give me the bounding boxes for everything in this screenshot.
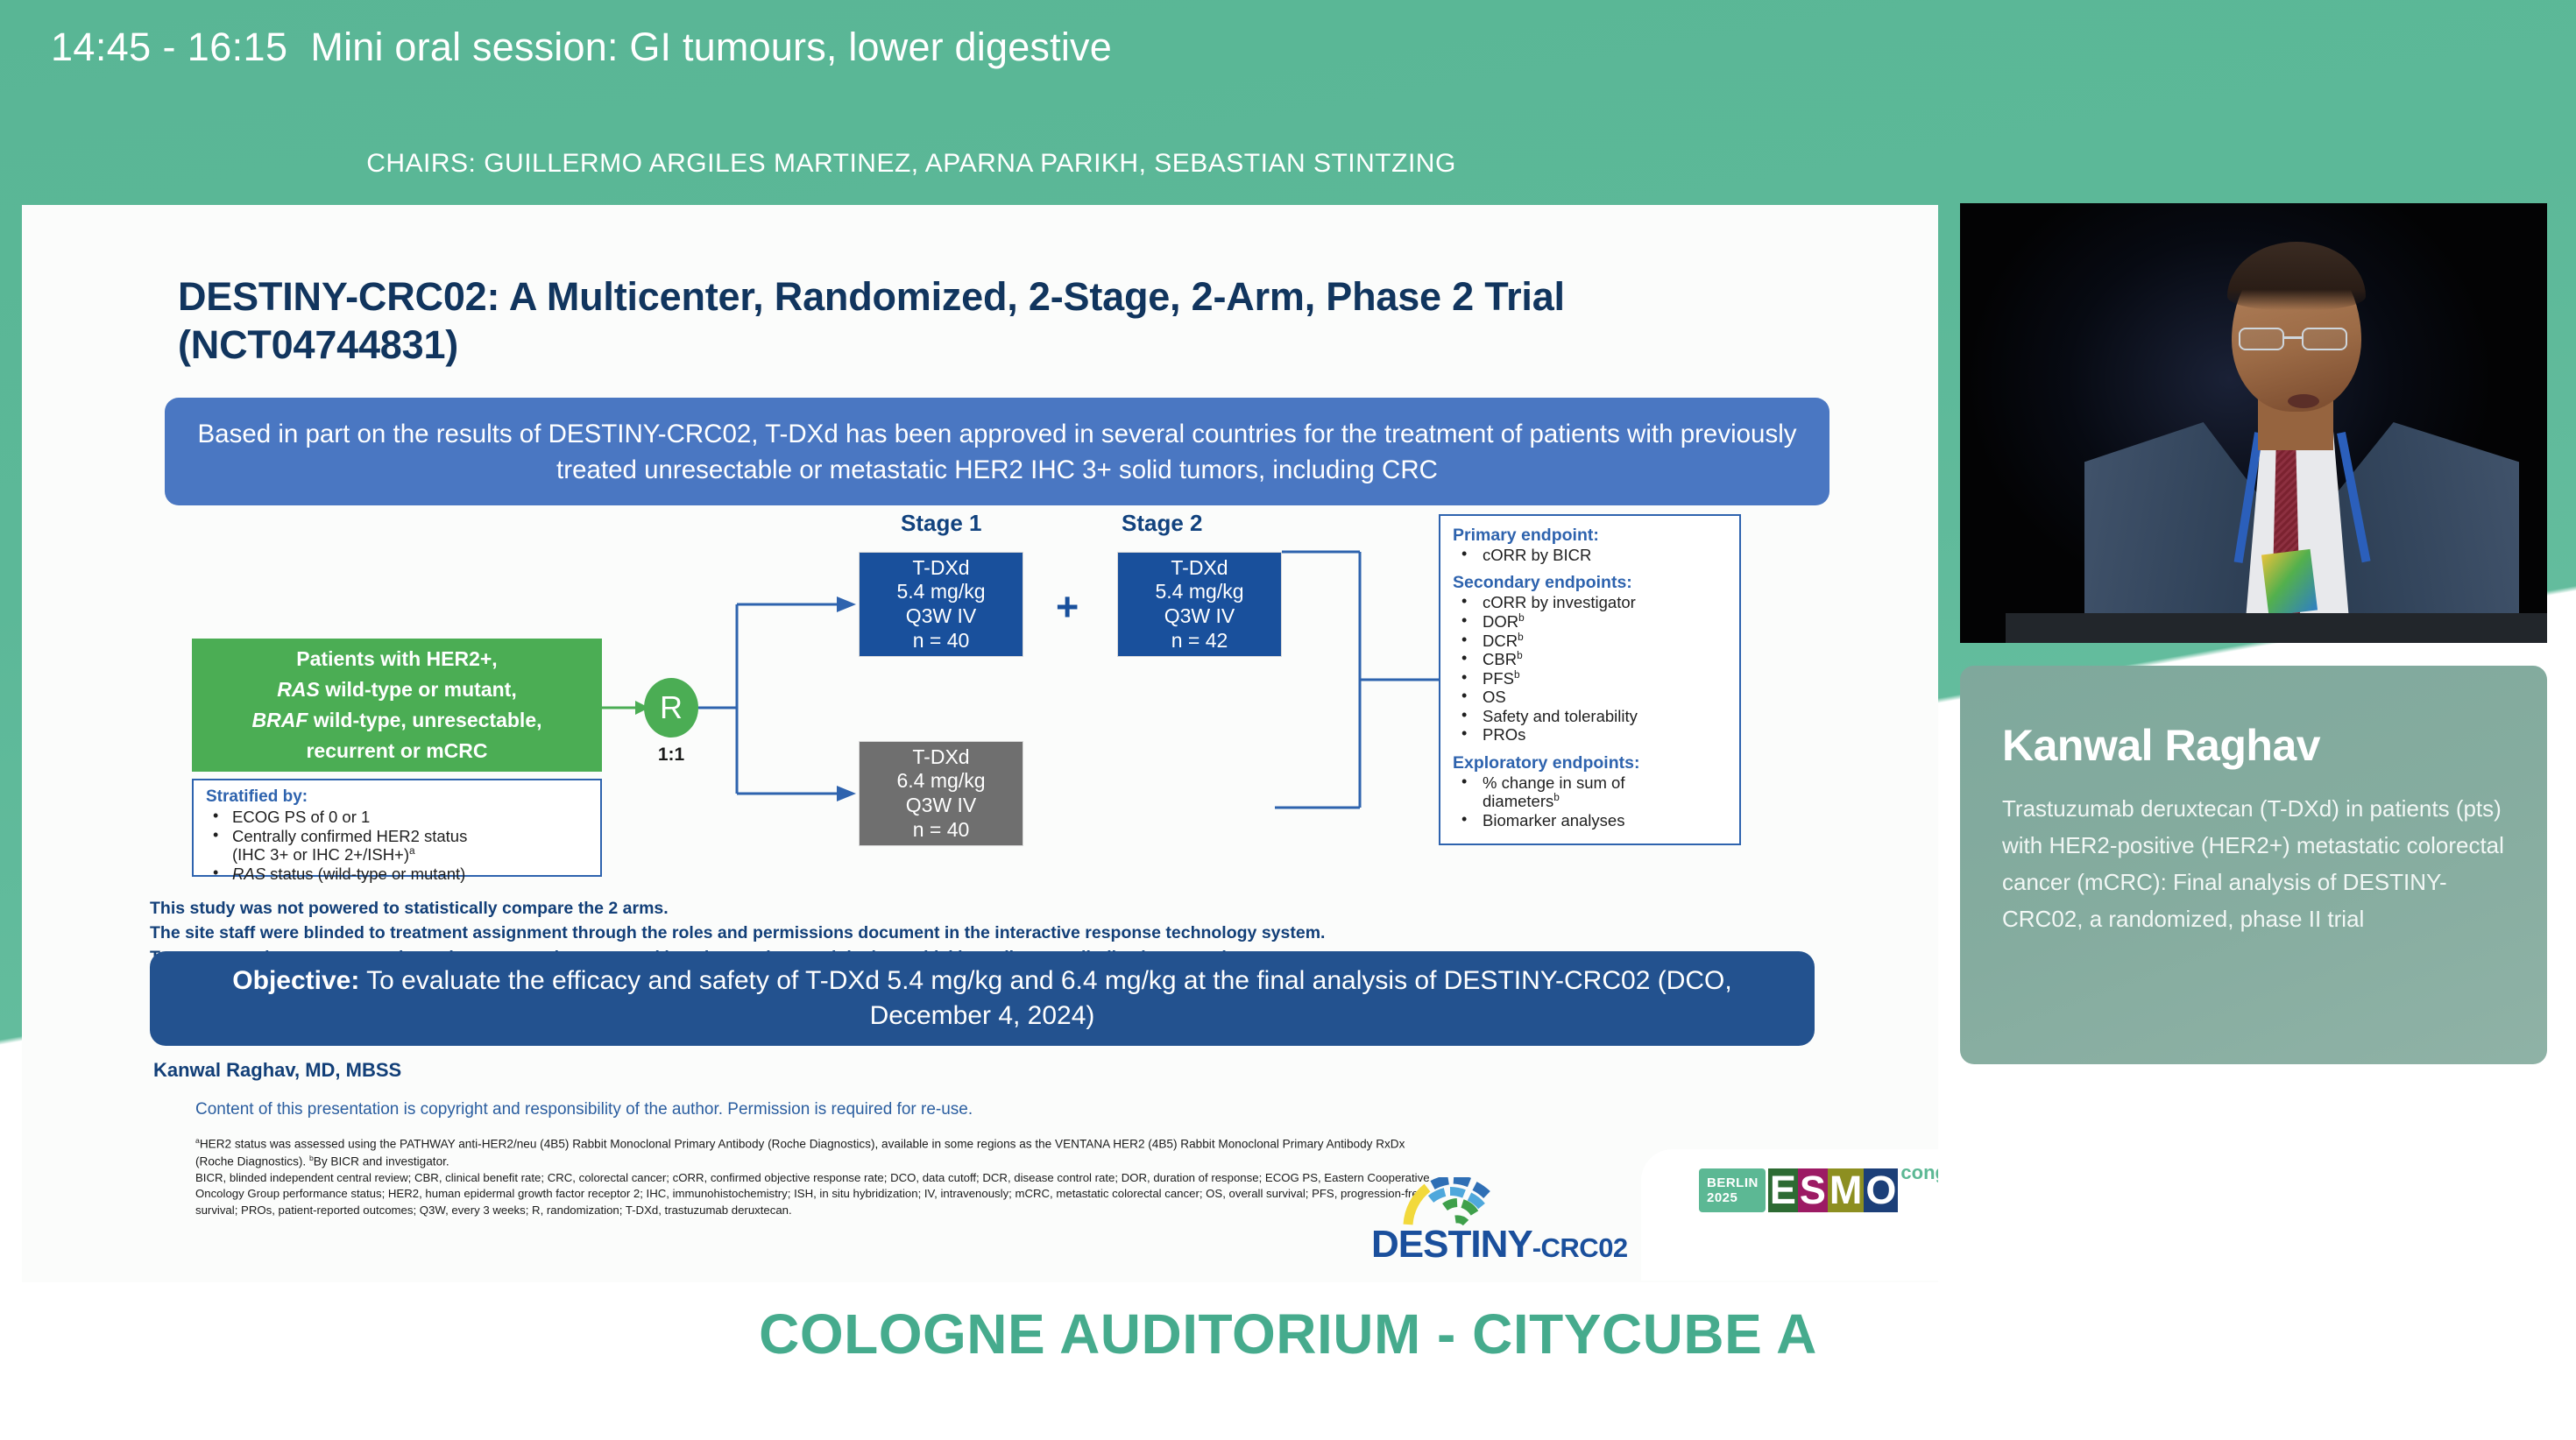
slide-content: DESTINY-CRC02: A Multicenter, Randomized… [22,205,1938,1282]
speaker-video[interactable] [1960,203,2547,643]
endpoint-item: PFSb [1453,669,1729,688]
esmo-berlin-city: BERLIN [1707,1176,1759,1191]
study-note-line: The site staff were blinded to treatment… [150,921,1815,946]
slide-copyright: Content of this presentation is copyrigh… [195,1100,973,1119]
arm-schedule: Q3W IV [863,794,1019,818]
population-line-1: Patients with HER2+, [201,644,593,674]
secondary-endpoints-title: Secondary endpoints: [1453,573,1729,593]
endpoint-item: DCRb [1453,632,1729,651]
population-line-2: RAS wild-type or mutant, [201,674,593,705]
arm-drug: T-DXd [1122,556,1277,581]
glasses-bridge [2284,336,2302,339]
session-header: 14:45 - 16:15 Mini oral session: GI tumo… [0,0,2576,205]
destiny-wordmark: DESTINY-CRC02 [1371,1223,1628,1267]
speaker-name: Kanwal Raghav [2002,720,2505,771]
arm-dose: 5.4 mg/kg [1122,580,1277,604]
slide-title: DESTINY-CRC02: A Multicenter, Randomized… [178,273,1790,370]
randomization-ratio: 1:1 [644,745,698,766]
arm-dose: 6.4 mg/kg [863,769,1019,794]
destiny-logo-sub: -CRC02 [1532,1232,1628,1263]
endpoint-item: OS [1453,688,1729,706]
session-heading: 14:45 - 16:15 Mini oral session: GI tumo… [51,25,1112,70]
endpoint-item: PROs [1453,725,1729,744]
arm-drug: T-DXd [863,556,1019,581]
session-time: 14:45 - 16:15 [51,25,287,70]
esmo-congress-logo: BERLIN 2025 E S M O congress [1699,1165,1938,1212]
endpoint-item: % change in sum ofdiametersb [1453,773,1729,811]
esmo-berlin-badge: BERLIN 2025 [1699,1168,1766,1212]
glasses-icon [2239,328,2284,350]
stratification-item: ECOG PS of 0 or 1 [206,808,590,827]
arm-dose: 5.4 mg/kg [863,580,1019,604]
stage-1-label: Stage 1 [901,510,982,537]
esmo-berlin-year: 2025 [1707,1191,1759,1206]
exploratory-endpoint-list: % change in sum ofdiametersb Biomarker a… [1453,773,1729,830]
speaker-presentation-title: Trastuzumab deruxtecan (T-DXd) in patien… [2002,790,2505,937]
speaker-mouth [2288,394,2319,408]
objective-banner: Objective: To evaluate the efficacy and … [150,951,1815,1046]
podium [2006,613,2547,643]
destiny-crc02-logo: DESTINY-CRC02 [1371,1177,1617,1265]
patient-population-box: Patients with HER2+, RAS wild-type or mu… [192,639,602,772]
population-line-3: BRAF wild-type, unresectable, [201,705,593,736]
destiny-logo-main: DESTINY [1371,1223,1532,1266]
secondary-endpoint-list: cORR by investigator DORb DCRb CBRb PFSb… [1453,593,1729,744]
speaker-info-card: Kanwal Raghav Trastuzumab deruxtecan (T-… [1960,666,2547,1064]
arm-stage1-5.4: T-DXd 5.4 mg/kg Q3W IV n = 40 [859,552,1023,657]
slide-viewer[interactable]: DESTINY-CRC02: A Multicenter, Randomized… [22,205,1938,1282]
stratification-title: Stratified by: [206,787,590,807]
endpoint-item: Biomarker analyses [1453,811,1729,829]
room-label: COLOGNE AUDITORIUM - CITYCUBE A [0,1302,2576,1366]
session-title: Mini oral session: GI tumours, lower dig… [310,25,1112,70]
slide-footnotes: aHER2 status was assessed using the PATH… [195,1135,1440,1219]
slide-presenter-credit: Kanwal Raghav, MD, MBSS [153,1059,401,1082]
arm-n: n = 40 [863,629,1019,653]
stratification-list: ECOG PS of 0 or 1 Centrally confirmed HE… [206,808,590,884]
esmo-letter-s: S [1798,1168,1828,1212]
randomization-node: R [644,678,698,738]
arm-schedule: Q3W IV [863,604,1019,629]
endpoint-item: CBRb [1453,650,1729,669]
trial-design-diagram: Stage 1 Stage 2 Patients with HER2+, RAS… [22,510,1938,860]
esmo-letter-e: E [1768,1168,1798,1212]
arm-schedule: Q3W IV [1122,604,1277,629]
footnote-superscripts: aHER2 status was assessed using the PATH… [195,1135,1440,1170]
objective-text-wrap: Objective: To evaluate the efficacy and … [185,964,1780,1034]
endpoint-item: DORb [1453,612,1729,632]
endpoint-item: cORR by BICR [1453,546,1729,564]
approval-banner: Based in part on the results of DESTINY-… [165,398,1829,505]
speaker-badge [2261,549,2318,616]
primary-endpoint-title: Primary endpoint: [1453,526,1729,546]
arm-drug: T-DXd [863,745,1019,770]
esmo-congress-word: congress [1900,1161,1938,1184]
esmo-letter-o: O [1864,1168,1898,1212]
footnote-abbreviations: BICR, blinded independent central review… [195,1170,1440,1219]
stratification-box: Stratified by: ECOG PS of 0 or 1 Central… [192,779,602,877]
plus-icon: + [1056,587,1079,626]
session-chairs: CHAIRS: GUILLERMO ARGILES MARTINEZ, APAR… [0,149,1822,179]
esmo-letters: E S M O [1768,1168,1899,1212]
primary-endpoint-list: cORR by BICR [1453,546,1729,564]
stage-2-label: Stage 2 [1122,510,1203,537]
glasses-icon [2302,328,2347,350]
arm-n: n = 40 [863,818,1019,843]
objective-text: To evaluate the efficacy and safety of T… [359,966,1731,1030]
study-note-line: This study was not powered to statistica… [150,897,1815,921]
esmo-letter-m: M [1828,1168,1865,1212]
arm-n: n = 42 [1122,629,1277,653]
population-line-4: recurrent or mCRC [201,736,593,766]
session-viewer-root: 14:45 - 16:15 Mini oral session: GI tumo… [0,0,2576,1440]
arm-stage1-6.4: T-DXd 6.4 mg/kg Q3W IV n = 40 [859,741,1023,846]
arm-stage2-5.4: T-DXd 5.4 mg/kg Q3W IV n = 42 [1117,552,1282,657]
endpoints-box: Primary endpoint: cORR by BICR Secondary… [1439,514,1741,845]
exploratory-endpoints-title: Exploratory endpoints: [1453,753,1729,773]
stratification-item: Centrally confirmed HER2 status(IHC 3+ o… [206,827,590,865]
objective-label: Objective: [232,966,359,995]
destiny-arc-icon [1403,1177,1517,1226]
endpoint-item: cORR by investigator [1453,593,1729,611]
esmo-logo-plate: BERLIN 2025 E S M O congress [1641,1149,1938,1281]
endpoint-item: Safety and tolerability [1453,707,1729,725]
stratification-item: RAS status (wild-type or mutant) [206,865,590,884]
